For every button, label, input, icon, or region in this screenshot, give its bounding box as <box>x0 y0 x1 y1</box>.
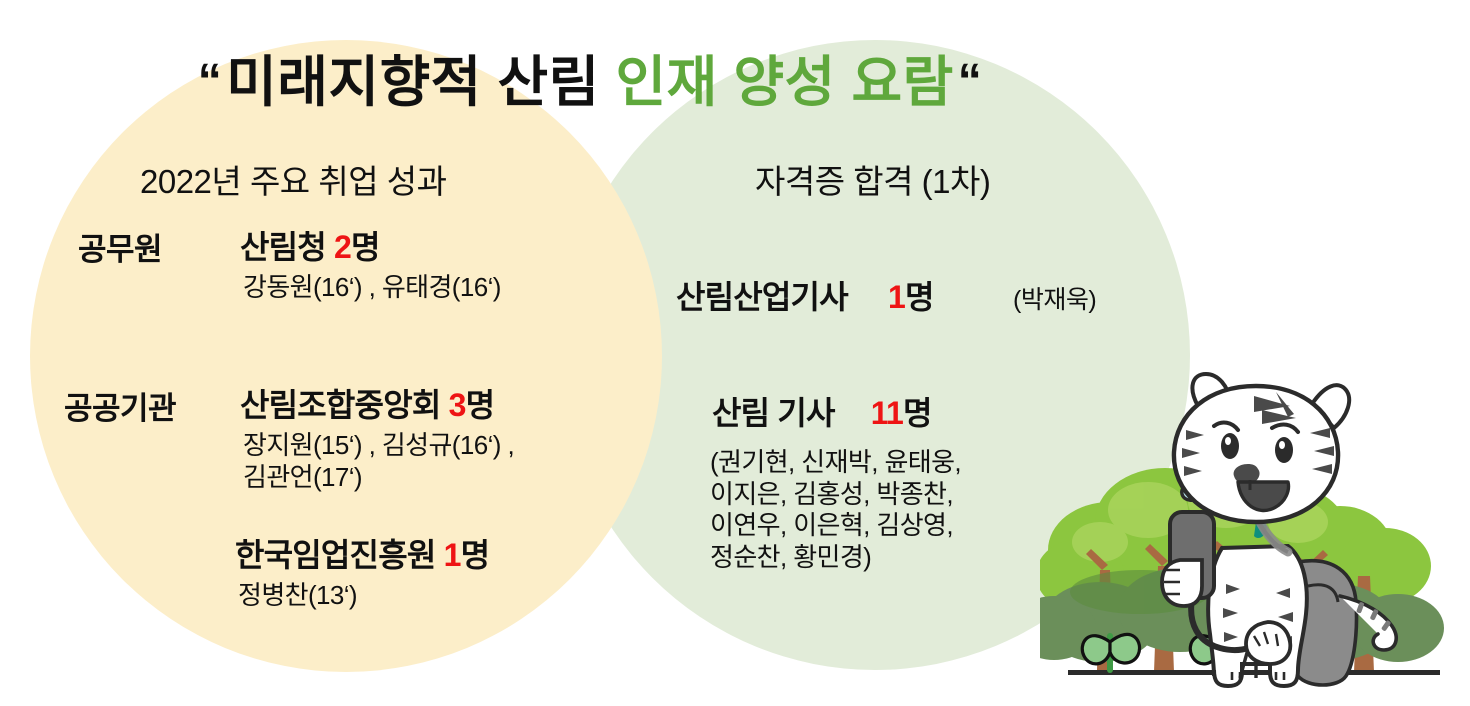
certificate-name: 산림산업기사 <box>676 279 848 315</box>
count-unit: 명 <box>461 537 490 573</box>
count-unit: 명 <box>903 395 932 431</box>
right-entry-industrial-engineer: 산림산업기사 1명 <box>676 272 934 318</box>
left-category-public-institution: 공공기관 <box>64 383 176 428</box>
count-unit: 명 <box>905 279 934 315</box>
right-entry-forest-engineer: 산림 기사 11명 <box>712 388 932 434</box>
right-names-forest-engineer: (권기현, 신재박, 윤태웅, 이지은, 김홍성, 박종찬, 이연우, 이은혁,… <box>710 447 961 574</box>
quote-close-mark: “ <box>954 55 987 108</box>
organization-name: 산림조합중앙회 <box>240 387 440 423</box>
title-part-dark: 미래지향적 산림 <box>226 51 599 113</box>
count-value: 11 <box>871 395 903 431</box>
left-entry-forestry-promotion: 한국임업진흥원 1명 <box>235 530 489 576</box>
count-value: 2 <box>334 229 351 265</box>
count-value: 3 <box>449 387 466 423</box>
organization-name: 한국임업진흥원 <box>235 537 435 573</box>
right-circle-subheading: 자격증 합격 (1차) <box>755 155 990 203</box>
mascot-illustration <box>1040 370 1470 706</box>
certificate-name: 산림 기사 <box>712 395 835 431</box>
count-unit: 명 <box>351 229 380 265</box>
organization-name: 산림청 <box>240 229 326 265</box>
eye-right <box>1275 437 1293 463</box>
eye-left <box>1221 433 1239 459</box>
count-unit: 명 <box>466 387 495 423</box>
count-value: 1 <box>888 279 905 315</box>
left-category-public-official: 공무원 <box>78 224 162 269</box>
tiger-paw-left <box>1162 560 1202 606</box>
left-names-forest-service: 강동원(16‘) , 유태경(16‘) <box>243 272 501 304</box>
left-entry-forestry-cooperative: 산림조합중앙회 3명 <box>240 380 494 426</box>
title-part-green: 인재 양성 요람 <box>616 51 954 113</box>
page-title: “미래지향적 산림 인재 양성 요람“ <box>0 52 1180 113</box>
ground-line <box>1068 670 1440 675</box>
venn-circle-left <box>30 40 662 672</box>
left-entry-forest-service: 산림청 2명 <box>240 222 380 268</box>
count-value: 1 <box>444 537 461 573</box>
right-names-industrial-engineer: (박재욱) <box>1013 280 1096 316</box>
tiger-paw-right <box>1246 622 1290 664</box>
quote-open-mark: “ <box>194 55 227 108</box>
left-names-forestry-cooperative: 장지원(15‘) , 김성규(16‘) , 김관언(17‘) <box>243 430 514 493</box>
sprout-icon-left <box>1082 634 1139 670</box>
left-circle-subheading: 2022년 주요 취업 성과 <box>140 155 446 203</box>
infographic-root: “미래지향적 산림 인재 양성 요람“ 2022년 주요 취업 성과 공무원 산… <box>0 0 1470 706</box>
left-names-forestry-promotion: 정병찬(13‘) <box>238 580 357 612</box>
